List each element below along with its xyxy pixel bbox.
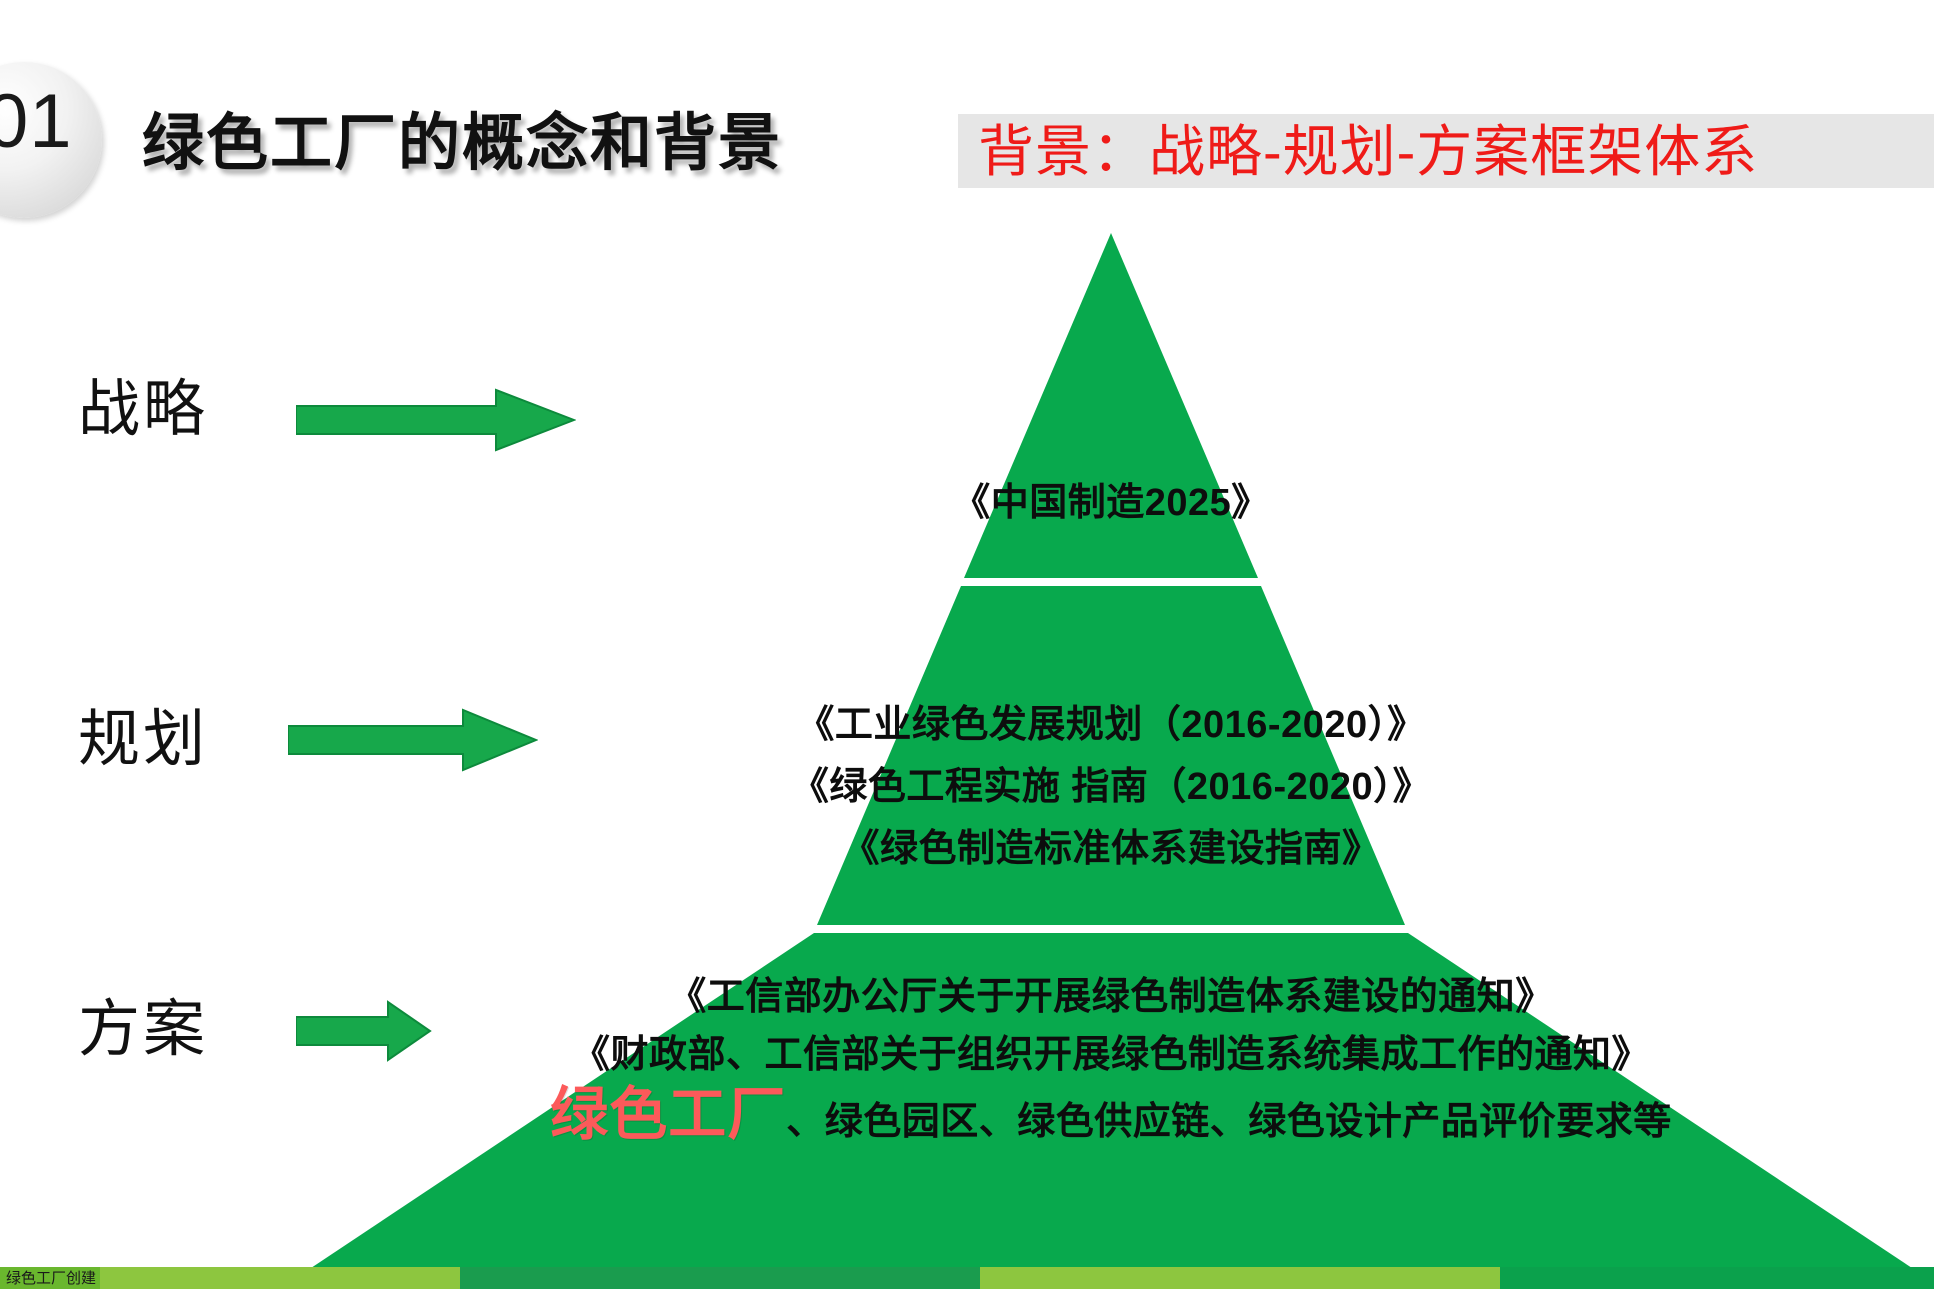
tier2-line-1: 《工业绿色发展规划（2016-2020）》 — [611, 694, 1611, 756]
pyramid-tier-strategy-text: 《中国制造2025》 — [711, 478, 1511, 528]
right-arrow-icon-scheme — [296, 1000, 432, 1062]
footer-segment-2 — [100, 1267, 460, 1289]
highlight-tail-text: 、绿色园区、绿色供应链、绿色设计产品评价要求等 — [786, 1101, 1672, 1143]
footer-note: 绿色工厂创建 — [6, 1267, 96, 1288]
page-title: 绿色工厂的概念和背景 — [142, 92, 782, 182]
tier3-line-1: 《工信部办公厅关于开展绿色制造体系建设的通知》 — [456, 968, 1766, 1026]
tier2-line-3: 《绿色制造标准体系建设指南》 — [611, 818, 1611, 880]
slide-canvas: 01 绿色工厂的概念和背景 背景：战略-规划-方案框架体系 战略 规划 方案 《… — [0, 0, 1934, 1289]
header-band-title: 背景：战略-规划-方案框架体系 — [978, 117, 1928, 187]
tier1-line-1: 《中国制造2025》 — [711, 478, 1511, 528]
right-arrow-icon-strategy — [296, 388, 576, 452]
footer-segment-3 — [460, 1267, 980, 1289]
highlight-green-factory: 绿色工厂 — [550, 1082, 786, 1147]
pyramid-tier-plan-text: 《工业绿色发展规划（2016-2020）》 《绿色工程实施 指南（2016-20… — [611, 694, 1611, 880]
right-arrow-icon-plan — [288, 708, 538, 772]
tier3-line-2: 《财政部、工信部关于组织开展绿色制造系统集成工作的通知》 — [456, 1026, 1766, 1084]
pyramid-tier-scheme-text: 《工信部办公厅关于开展绿色制造体系建设的通知》 《财政部、工信部关于组织开展绿色… — [456, 968, 1766, 1149]
stage-label-plan: 规划 — [78, 688, 208, 778]
stage-label-scheme: 方案 — [78, 978, 208, 1068]
stage-label-strategy: 战略 — [78, 358, 208, 448]
footer-segment-5 — [1500, 1267, 1934, 1289]
footer-segment-4 — [980, 1267, 1500, 1289]
footer-strip: 绿色工厂创建 — [0, 1267, 1934, 1289]
section-number-label: 01 — [0, 84, 73, 160]
tier3-line-3: 绿色工厂、绿色园区、绿色供应链、绿色设计产品评价要求等 — [456, 1088, 1766, 1149]
tier2-line-2: 《绿色工程实施 指南（2016-2020）》 — [611, 756, 1611, 818]
